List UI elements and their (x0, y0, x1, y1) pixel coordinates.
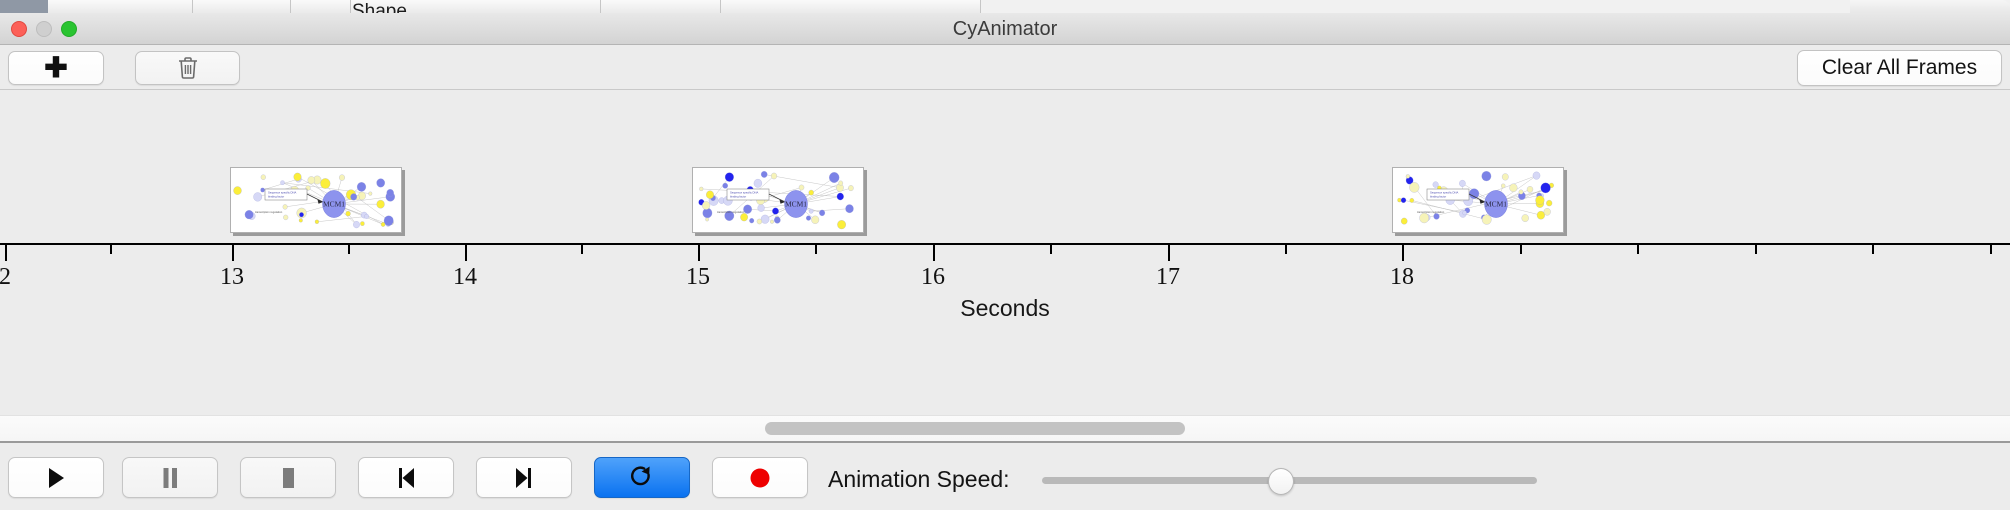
record-button[interactable] (712, 457, 808, 498)
prev-frame-button[interactable] (358, 457, 454, 498)
next-frame-button[interactable] (476, 457, 572, 498)
svg-text:MCM1: MCM1 (1485, 200, 1507, 209)
skip-end-icon (513, 466, 535, 490)
timeline-tick (348, 245, 350, 254)
background-column-6 (721, 0, 981, 14)
timeline-tick (815, 245, 817, 254)
stop-button[interactable] (240, 457, 336, 498)
timeline-tick (110, 245, 112, 254)
timeline-tick (1872, 245, 1874, 254)
svg-text:MCM1: MCM1 (323, 200, 345, 209)
trash-icon (177, 56, 199, 80)
svg-text:Sequence specific DNA: Sequence specific DNA (1430, 191, 1458, 195)
background-window-right-corner (1850, 0, 2010, 14)
timeline-tick-label: 2 (0, 264, 11, 291)
background-column-3 (291, 0, 351, 14)
timeline-tick-label: 14 (453, 264, 477, 291)
add-frame-button[interactable]: ✚ (8, 51, 104, 85)
svg-text:transcription regulation: transcription regulation (255, 210, 283, 214)
frame-thumbnail[interactable]: Sequence specific DNAbinding factortrans… (1392, 167, 1564, 233)
loop-button[interactable] (594, 457, 690, 498)
scrollbar-thumb[interactable] (765, 422, 1185, 435)
network-preview: Sequence specific DNAbinding factortrans… (693, 168, 863, 232)
horizontal-scrollbar[interactable] (0, 415, 2010, 441)
timeline-tick-label: 15 (686, 264, 710, 291)
background-column-1 (48, 0, 193, 14)
svg-text:binding factor: binding factor (730, 194, 746, 198)
background-column-2 (193, 0, 291, 14)
timeline-tick (1168, 245, 1170, 261)
toolbar: ✚ Clear All Frames (0, 45, 2010, 90)
svg-text:Sequence specific DNA: Sequence specific DNA (268, 191, 296, 195)
svg-text:binding factor: binding factor (268, 194, 284, 198)
timeline-tick-label: 16 (921, 264, 945, 291)
timeline-tick (1990, 245, 1992, 254)
frame-thumbnail[interactable]: Sequence specific DNAbinding factortrans… (692, 167, 864, 233)
timeline-tick (1755, 245, 1757, 254)
timeline-tick (698, 245, 700, 261)
background-column-5 (601, 0, 721, 14)
timeline-tick (933, 245, 935, 261)
skip-start-icon (395, 466, 417, 490)
timeline-tick (1285, 245, 1287, 254)
loop-icon (630, 465, 654, 491)
clear-all-frames-button[interactable]: Clear All Frames (1797, 50, 2002, 86)
pause-icon (160, 466, 180, 490)
timeline-axis (0, 243, 2010, 245)
record-icon (748, 466, 772, 490)
timeline-tick (465, 245, 467, 261)
animation-speed-label: Animation Speed: (828, 466, 1010, 493)
animation-speed-knob[interactable] (1268, 468, 1294, 495)
axis-title: Seconds (0, 295, 2010, 322)
window-title: CyAnimator (0, 18, 2010, 41)
timeline-tick (1050, 245, 1052, 254)
delete-frame-button[interactable] (135, 51, 240, 85)
play-icon (45, 466, 67, 490)
timeline-tick (232, 245, 234, 261)
svg-text:transcription regulation: transcription regulation (717, 210, 745, 214)
background-window-strip: Shape (0, 0, 2010, 14)
timeline-tick (1520, 245, 1522, 254)
svg-text:binding factor: binding factor (1430, 194, 1446, 198)
svg-text:transcription regulation: transcription regulation (1417, 210, 1445, 214)
timeline-tick (581, 245, 583, 254)
plus-icon: ✚ (44, 54, 67, 82)
timeline-panel[interactable]: Sequence specific DNAbinding factortrans… (0, 90, 2010, 415)
play-button[interactable] (8, 457, 104, 498)
stop-icon (278, 466, 298, 490)
pause-button[interactable] (122, 457, 218, 498)
timeline-tick-label: 13 (220, 264, 244, 291)
timeline-tick (1402, 245, 1404, 261)
background-window-titlebar (0, 0, 48, 13)
playback-control-bar: Animation Speed: (0, 441, 2010, 510)
svg-text:Sequence specific DNA: Sequence specific DNA (730, 191, 758, 195)
timeline-tick-label: 17 (1156, 264, 1180, 291)
timeline-tick-label: 18 (1390, 264, 1414, 291)
cyanimator-window: Shape CyAnimator ✚ Clear All Frames Sequ… (0, 0, 2010, 510)
network-preview: Sequence specific DNAbinding factortrans… (231, 168, 401, 232)
title-bar: CyAnimator (0, 13, 2010, 45)
timeline-tick (1637, 245, 1639, 254)
frame-thumbnail[interactable]: Sequence specific DNAbinding factortrans… (230, 167, 402, 233)
timeline-tick (5, 245, 7, 261)
network-preview: Sequence specific DNAbinding factortrans… (1393, 168, 1563, 232)
svg-text:MCM1: MCM1 (785, 200, 807, 209)
